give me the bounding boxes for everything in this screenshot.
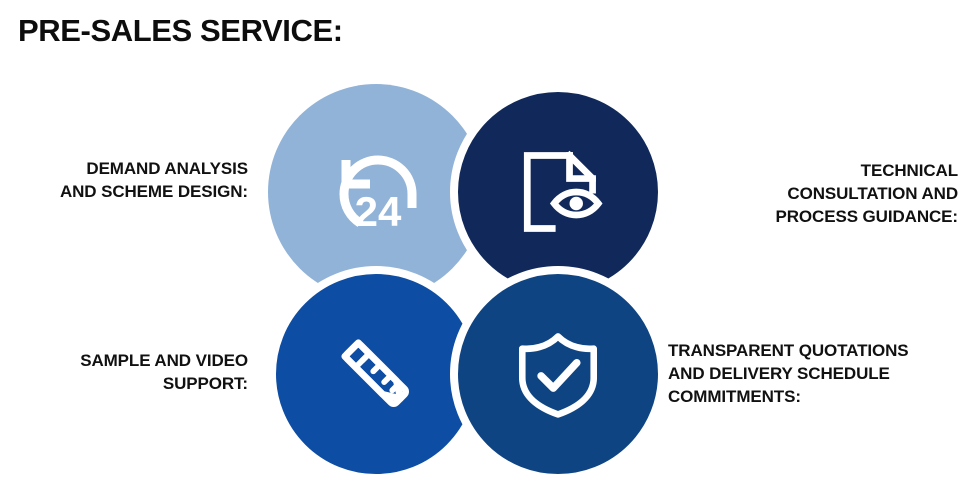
icon-24-text: 24	[355, 188, 402, 235]
page-title: PRE-SALES SERVICE:	[18, 12, 343, 49]
label-line: SAMPLE AND VIDEO	[0, 350, 248, 373]
label-technical-consultation: TECHNICAL CONSULTATION AND PROCESS GUIDA…	[726, 160, 958, 229]
label-line: TRANSPARENT QUOTATIONS	[668, 340, 960, 363]
label-line: COMMITMENTS:	[668, 386, 960, 409]
document-eye-icon	[508, 142, 608, 242]
label-line: DEMAND ANALYSIS	[0, 158, 248, 181]
label-line: AND SCHEME DESIGN:	[0, 181, 248, 204]
label-transparent-quotations: TRANSPARENT QUOTATIONS AND DELIVERY SCHE…	[668, 340, 960, 409]
infographic-canvas: PRE-SALES SERVICE: DEMAND ANALYSIS AND S…	[0, 0, 960, 498]
label-line: PROCESS GUIDANCE:	[726, 206, 958, 229]
label-line: TECHNICAL	[726, 160, 958, 183]
circle-transparent-quotations[interactable]	[450, 266, 666, 482]
label-line: SUPPORT:	[0, 373, 248, 396]
label-sample-video-support: SAMPLE AND VIDEO SUPPORT:	[0, 350, 248, 396]
label-demand-analysis: DEMAND ANALYSIS AND SCHEME DESIGN:	[0, 158, 248, 204]
label-line: AND DELIVERY SCHEDULE	[668, 363, 960, 386]
circle-cluster: 24	[268, 84, 664, 480]
pencil-ruler-icon	[326, 324, 426, 424]
shield-check-icon	[508, 324, 608, 424]
24-hour-rotation-icon: 24	[326, 142, 426, 242]
label-line: CONSULTATION AND	[726, 183, 958, 206]
